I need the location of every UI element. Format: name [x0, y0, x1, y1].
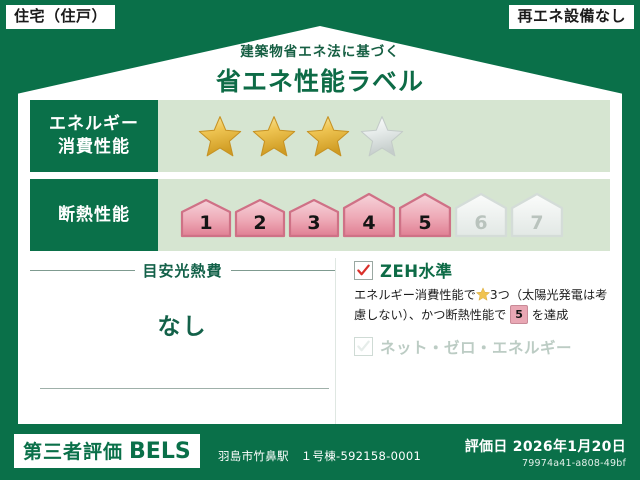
grade-number-3: 3	[288, 212, 340, 234]
grade-house-4: 4	[342, 192, 396, 238]
check-icon-faded	[357, 340, 370, 353]
zeh-desc-part1: エネルギー消費性能で	[354, 288, 476, 302]
evaluation-info: 評価日 2026年1月20日 79974a41-a808-49bf	[465, 436, 626, 469]
zeh-desc-part3: を達成	[532, 308, 569, 322]
bels-logo: BELS	[129, 439, 191, 464]
grade-house-6: 6	[454, 192, 508, 238]
zeh-header: ZEH水準	[354, 258, 610, 282]
section-divider	[335, 258, 336, 452]
bels-energy-label: 住宅（住戸） 再エネ設備なし 建築物省エネ法に基づく 省エネ性能ラベル エネルギ…	[0, 0, 640, 480]
net-zero-energy-title: ネット・ゼロ・エネルギー	[380, 336, 572, 358]
performance-panel: エネルギー 消費性能	[30, 100, 610, 255]
net-zero-energy-row: ネット・ゼロ・エネルギー	[354, 336, 610, 358]
star-icon-filled-1	[198, 114, 242, 158]
grade-number-7: 7	[510, 212, 564, 234]
property-address: 羽島市竹鼻駅 １号棟-592158-0001	[218, 448, 421, 464]
grade-house-2: 2	[234, 198, 286, 238]
title-subtitle: 建築物省エネ法に基づく	[0, 40, 640, 60]
insulation-grade-scale: 1 2 3	[180, 192, 564, 238]
renewable-equipment-tag: 再エネ設備なし	[509, 5, 634, 29]
star-icon-empty-4	[360, 114, 404, 158]
footer-bar: 第三者評価 BELS 羽島市竹鼻駅 １号棟-592158-0001 評価日 20…	[0, 424, 640, 480]
utility-cost-value: なし	[30, 307, 335, 341]
insulation-performance-value: 1 2 3	[158, 179, 610, 251]
rule-right	[231, 270, 336, 271]
energy-label-line1: エネルギー	[49, 113, 139, 136]
star-icon-inline	[476, 287, 490, 301]
page-title: 省エネ性能ラベル	[0, 62, 640, 98]
label-title-block: 建築物省エネ法に基づく 省エネ性能ラベル	[0, 40, 640, 98]
bels-badge: 第三者評価 BELS	[14, 434, 200, 468]
grade-house-3: 3	[288, 198, 340, 238]
evaluation-date: 評価日 2026年1月20日	[465, 436, 626, 456]
grade-number-5: 5	[398, 212, 452, 234]
grade-number-1: 1	[180, 212, 232, 234]
building-type-tag: 住宅（住戸）	[6, 5, 115, 29]
zeh-title: ZEH水準	[380, 258, 453, 282]
star-icon-filled-3	[306, 114, 350, 158]
energy-performance-row: エネルギー 消費性能	[30, 100, 610, 172]
grade-number-4: 4	[342, 212, 396, 234]
nze-checkbox-unchecked	[354, 337, 373, 356]
star-rating	[198, 114, 404, 158]
utility-cost-title: 目安光熱費	[143, 260, 223, 281]
evaluation-id: 79974a41-a808-49bf	[465, 458, 626, 469]
insulation-performance-row: 断熱性能 1	[30, 179, 610, 251]
third-party-evaluation-label: 第三者評価	[23, 437, 123, 464]
energy-label-line2: 消費性能	[58, 136, 130, 159]
zeh-checkbox-checked	[354, 261, 373, 280]
energy-performance-label: エネルギー 消費性能	[30, 100, 158, 172]
zeh-grade-badge: 5	[510, 305, 528, 324]
grade-number-6: 6	[454, 212, 508, 234]
utility-cost-header: 目安光熱費	[30, 260, 335, 281]
grade-house-1: 1	[180, 198, 232, 238]
star-icon-filled-2	[252, 114, 296, 158]
rule-left	[30, 270, 135, 271]
check-icon	[357, 264, 370, 277]
grade-number-2: 2	[234, 212, 286, 234]
utility-cost-underline	[40, 388, 329, 389]
insulation-performance-label: 断熱性能	[30, 179, 158, 251]
energy-performance-value	[158, 100, 610, 172]
zeh-description: エネルギー消費性能で3つ（太陽光発電は考慮しない）、かつ断熱性能で 5 を達成	[354, 286, 610, 325]
grade-house-5: 5	[398, 192, 452, 238]
insulation-label-line1: 断熱性能	[58, 204, 130, 227]
grade-house-7: 7	[510, 192, 564, 238]
